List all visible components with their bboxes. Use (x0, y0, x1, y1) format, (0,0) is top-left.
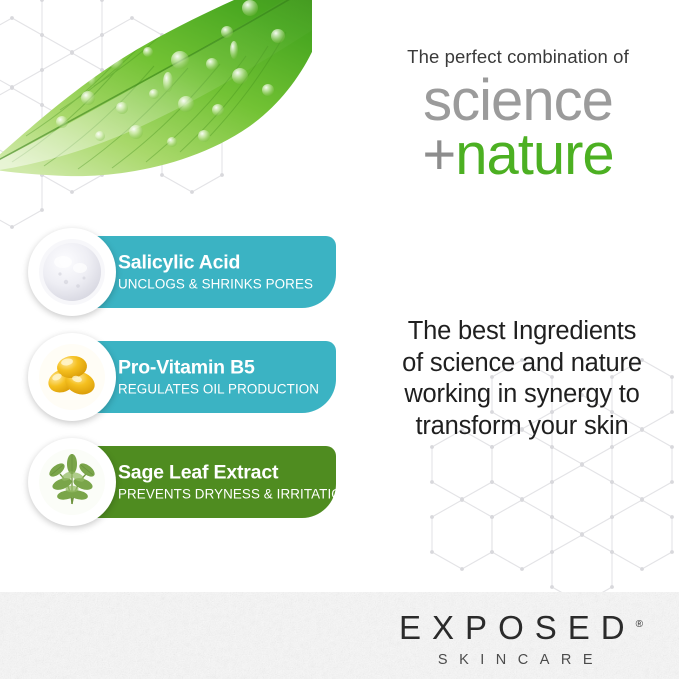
ingredient-text: Pro-Vitamin B5 REGULATES OIL PRODUCTION (118, 357, 319, 396)
salicylic-acid-powder-icon (38, 238, 106, 306)
headline-word-nature: +nature (368, 128, 668, 182)
list-item: Salicylic Acid UNCLOGS & SHRINKS PORES (28, 236, 348, 308)
body-copy-line-3: working in synergy to (384, 379, 660, 411)
list-item: Pro-Vitamin B5 REGULATES OIL PRODUCTION (28, 341, 348, 413)
plus-sign: + (422, 122, 455, 187)
list-item: Sage Leaf Extract PREVENTS DRYNESS & IRR… (28, 446, 348, 518)
vitamin-b5-capsules-icon (38, 343, 106, 411)
brand-name: EXPOSED® (379, 611, 663, 644)
registered-trademark-icon: ® (636, 619, 643, 630)
ingredient-list: Salicylic Acid UNCLOGS & SHRINKS PORES (28, 236, 348, 551)
ingredient-title: Pro-Vitamin B5 (118, 357, 319, 379)
ingredient-subtitle: REGULATES OIL PRODUCTION (118, 381, 319, 396)
headline-block: The perfect combination of science +natu… (368, 46, 668, 182)
ingredient-subtitle: PREVENTS DRYNESS & IRRITATION (118, 486, 352, 501)
headline-word-science: science (368, 74, 668, 128)
brand-logo: EXPOSED® SKINCARE (379, 611, 663, 668)
brand-tagline: SKINCARE (379, 653, 663, 668)
body-copy: The best Ingredients of science and natu… (384, 316, 660, 442)
brand-name-text: EXPOSED (399, 609, 636, 646)
ingredient-title: Salicylic Acid (118, 252, 313, 274)
ingredient-thumbnail (28, 438, 116, 526)
sage-leaf-icon (38, 448, 106, 516)
body-copy-line-2: of science and nature (384, 348, 660, 380)
body-copy-line-1: The best Ingredients (384, 316, 660, 348)
body-copy-line-4: transform your skin (384, 411, 660, 443)
ingredient-title: Sage Leaf Extract (118, 462, 352, 484)
ingredient-thumbnail (28, 333, 116, 421)
leaf-image (0, 0, 312, 216)
ingredient-subtitle: UNCLOGS & SHRINKS PORES (118, 276, 313, 291)
ingredient-thumbnail (28, 228, 116, 316)
headline-kicker: The perfect combination of (368, 46, 668, 68)
ingredient-text: Sage Leaf Extract PREVENTS DRYNESS & IRR… (118, 462, 352, 501)
ingredient-text: Salicylic Acid UNCLOGS & SHRINKS PORES (118, 252, 313, 291)
nature-text: nature (455, 122, 613, 187)
promo-graphic: The perfect combination of science +natu… (0, 0, 679, 679)
